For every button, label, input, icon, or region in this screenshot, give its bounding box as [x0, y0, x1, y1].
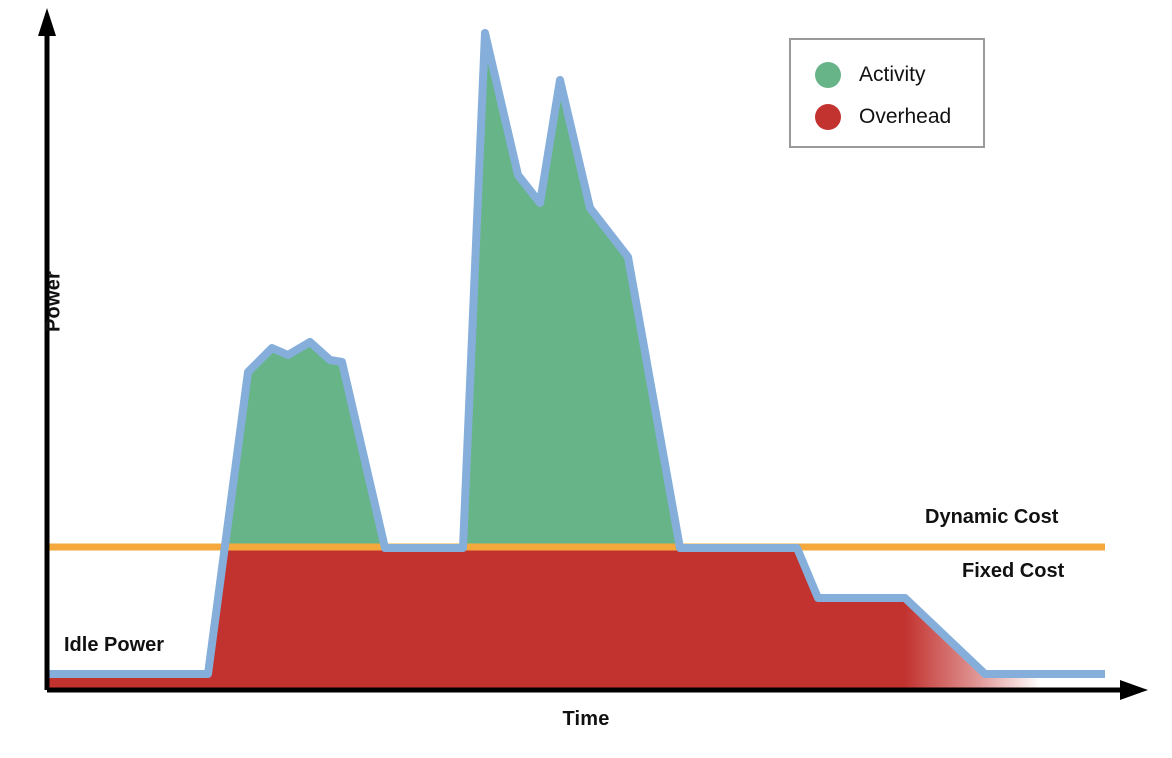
idle-power-annotation: Idle Power	[64, 634, 164, 657]
legend-item-overhead: Overhead	[791, 96, 983, 138]
fixed-cost-annotation: Fixed Cost	[962, 560, 1064, 583]
y-axis-arrowhead	[38, 8, 56, 36]
power-vs-time-chart: Power Time Dynamic Cost Fixed Cost Idle …	[0, 0, 1172, 758]
y-axis-label: Power	[43, 242, 66, 362]
x-axis-label: Time	[0, 708, 1172, 731]
chart-canvas	[0, 0, 1172, 758]
legend-label-overhead: Overhead	[859, 105, 951, 129]
overhead-color-swatch-icon	[815, 104, 841, 130]
dynamic-cost-annotation: Dynamic Cost	[925, 506, 1058, 529]
activity-color-swatch-icon	[815, 62, 841, 88]
legend-item-activity: Activity	[791, 54, 983, 96]
chart-legend: Activity Overhead	[789, 38, 985, 148]
x-axis-arrowhead	[1120, 680, 1148, 700]
legend-label-activity: Activity	[859, 63, 926, 87]
